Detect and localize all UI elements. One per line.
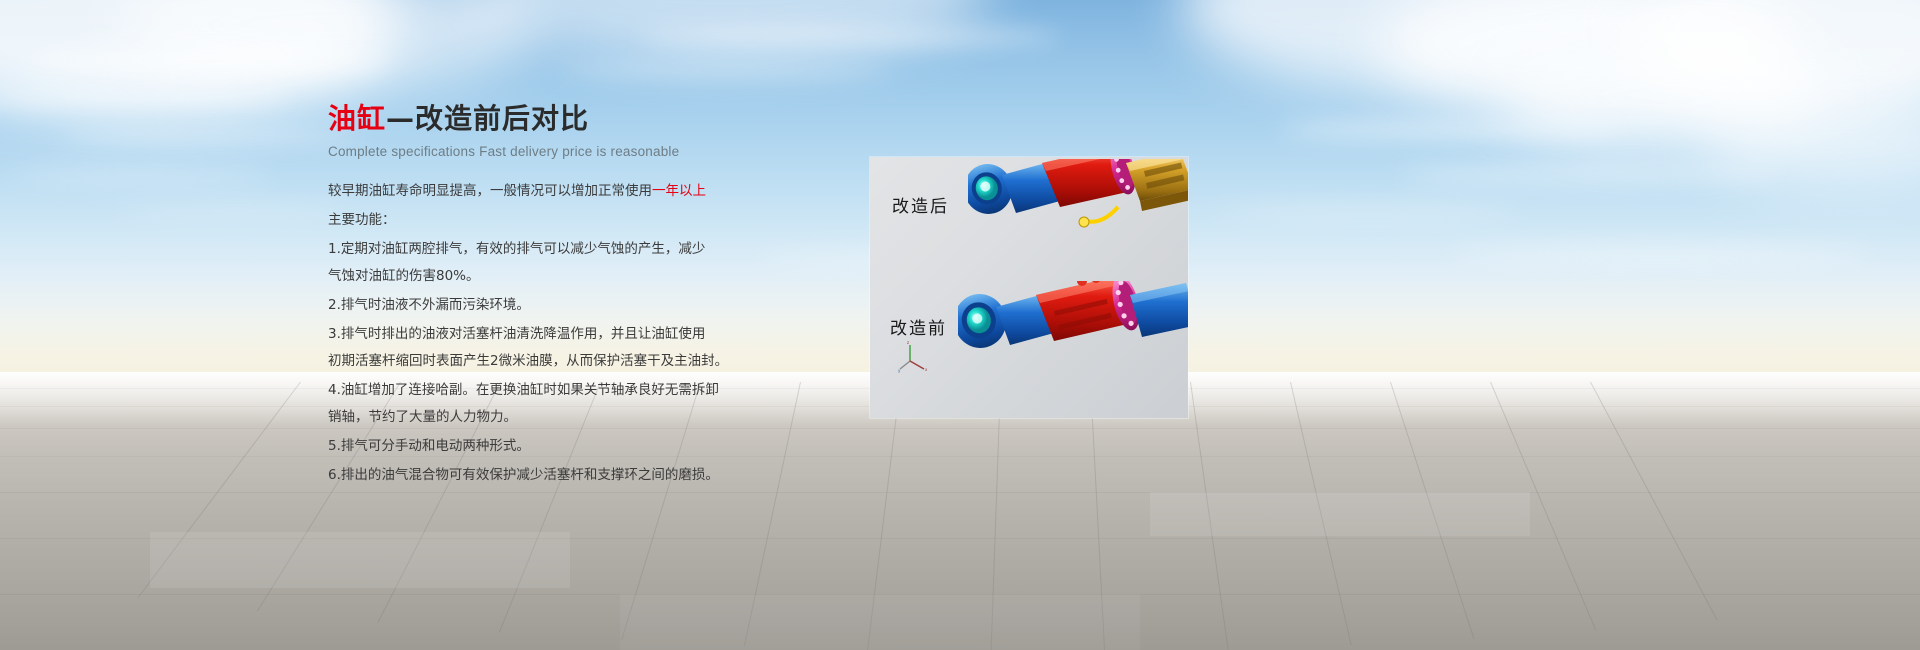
cloud: [120, 205, 350, 217]
svg-text:x: x: [925, 367, 928, 372]
feature-line: 5.排气可分手动和电动两种形式。: [328, 436, 848, 456]
cylinder-before-render: [958, 281, 1188, 411]
page-title-highlight: 油缸: [328, 102, 386, 135]
feature-line: 4.油缸增加了连接哈副。在更换油缸时如果关节轴承良好无需拆卸: [328, 380, 848, 400]
cloud: [60, 128, 360, 144]
ground-tile-highlight: [1150, 492, 1530, 536]
cloud: [560, 62, 890, 78]
label-before-retrofit: 改造前: [890, 314, 947, 339]
feature-line-text: 6.排出的油气混合物可有效保护减少活塞杆和支撑环之间的磨损。: [328, 467, 719, 483]
feature-line-text: 气蚀对油缸的伤害80%。: [328, 268, 480, 284]
feature-line: 3.排气时排出的油液对活塞杆油清洗降温作用，并且让油缸使用: [328, 324, 848, 344]
page-title-rest: —改造前后对比: [386, 102, 589, 135]
cloud: [1220, 205, 1520, 219]
cloud: [1450, 245, 1870, 263]
feature-line-text: 主要功能：: [328, 212, 396, 228]
svg-text:z: z: [907, 340, 909, 345]
feature-line-text: 2.排气时油液不外漏而污染环境。: [328, 297, 530, 313]
feature-line-text: 销轴，节约了大量的人力物力。: [328, 409, 517, 425]
page-title: 油缸—改造前后对比: [328, 104, 848, 135]
feature-line: 气蚀对油缸的伤害80%。: [328, 266, 848, 286]
feature-line: 较早期油缸寿命明显提高，一般情况可以增加正常使用一年以上: [328, 181, 848, 201]
feature-line-text: 1.定期对油缸两腔排气，有效的排气可以减少气蚀的产生，减少: [328, 241, 705, 257]
feature-line: 2.排气时油液不外漏而污染环境。: [328, 295, 848, 315]
feature-line-text: 初期活塞杆缩回时表面产生2微米油膜，从而保护活塞干及主油封。: [328, 353, 728, 369]
cloud: [1280, 120, 1620, 140]
feature-line: 销轴，节约了大量的人力物力。: [328, 407, 848, 427]
label-after-retrofit: 改造后: [892, 192, 949, 217]
cloud: [1400, 165, 1780, 183]
ground-line: [0, 428, 1920, 429]
ground-line: [0, 456, 1920, 457]
cloud: [10, 168, 270, 182]
feature-line-text: 3.排气时排出的油液对活塞杆油清洗降温作用，并且让油缸使用: [328, 326, 705, 342]
feature-line: 初期活塞杆缩回时表面产生2微米油膜，从而保护活塞干及主油封。: [328, 351, 848, 371]
feature-line-text: 5.排气可分手动和电动两种形式。: [328, 438, 530, 454]
feature-list: 较早期油缸寿命明显提高，一般情况可以增加正常使用一年以上 主要功能： 1.定期对…: [328, 181, 848, 485]
cloud: [640, 26, 1060, 48]
page-subtitle: Complete specifications Fast delivery pr…: [328, 144, 848, 159]
feature-line: 主要功能：: [328, 210, 848, 230]
banner-stage: 油缸—改造前后对比 Complete specifications Fast d…: [0, 0, 1920, 650]
ground-tile-highlight: [150, 532, 570, 588]
coordinate-axis-icon: z x y: [898, 339, 938, 373]
product-comparison-image: 改造后 改造前 z x y: [870, 157, 1188, 418]
cloud: [30, 48, 390, 74]
feature-line: 1.定期对油缸两腔排气，有效的排气可以减少气蚀的产生，减少: [328, 239, 848, 259]
feature-line-text: 4.油缸增加了连接哈副。在更换油缸时如果关节轴承良好无需拆卸: [328, 382, 719, 398]
ground-tile-highlight: [620, 594, 1140, 650]
feature-line: 6.排出的油气混合物可有效保护减少活塞杆和支撑环之间的磨损。: [328, 465, 848, 485]
feature-line-text: 较早期油缸寿命明显提高，一般情况可以增加正常使用: [328, 183, 652, 199]
cylinder-after-render: [968, 159, 1188, 289]
promo-text-block: 油缸—改造前后对比 Complete specifications Fast d…: [328, 104, 848, 494]
ground-line: [0, 492, 1920, 493]
feature-line-emphasis: 一年以上: [652, 183, 706, 199]
